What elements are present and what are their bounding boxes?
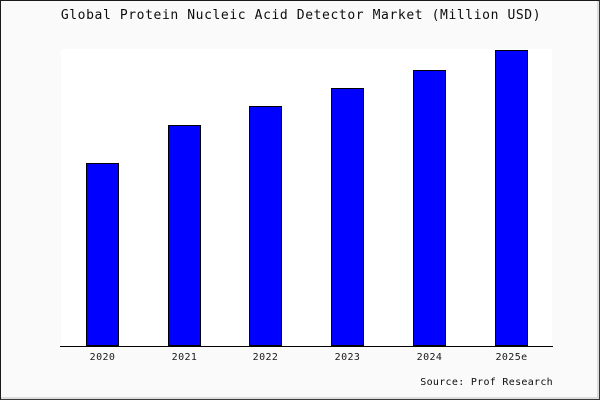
x-tick-label-2021: 2021 — [150, 352, 220, 363]
x-axis-line — [60, 346, 553, 347]
bar-2020 — [86, 163, 119, 346]
chart-figure: Global Protein Nucleic Acid Detector Mar… — [0, 0, 600, 400]
plot-area — [61, 49, 552, 346]
bar-2025e — [495, 50, 528, 346]
source-attribution: Source: Prof Research — [420, 377, 553, 388]
x-tick-label-2023: 2023 — [313, 352, 383, 363]
page-title: Global Protein Nucleic Acid Detector Mar… — [1, 8, 600, 23]
bar-2024 — [413, 70, 446, 346]
x-tick-label-2024: 2024 — [395, 352, 465, 363]
bar-2023 — [331, 88, 364, 346]
x-tick-label-2020: 2020 — [68, 352, 138, 363]
x-tick-label-2022: 2022 — [231, 352, 301, 363]
bar-series — [61, 49, 552, 346]
x-axis-tick-labels: 202020212022202320242025e — [61, 352, 552, 368]
bar-2021 — [168, 125, 201, 346]
x-tick-label-2025e: 2025e — [477, 352, 547, 363]
bar-2022 — [249, 106, 282, 346]
